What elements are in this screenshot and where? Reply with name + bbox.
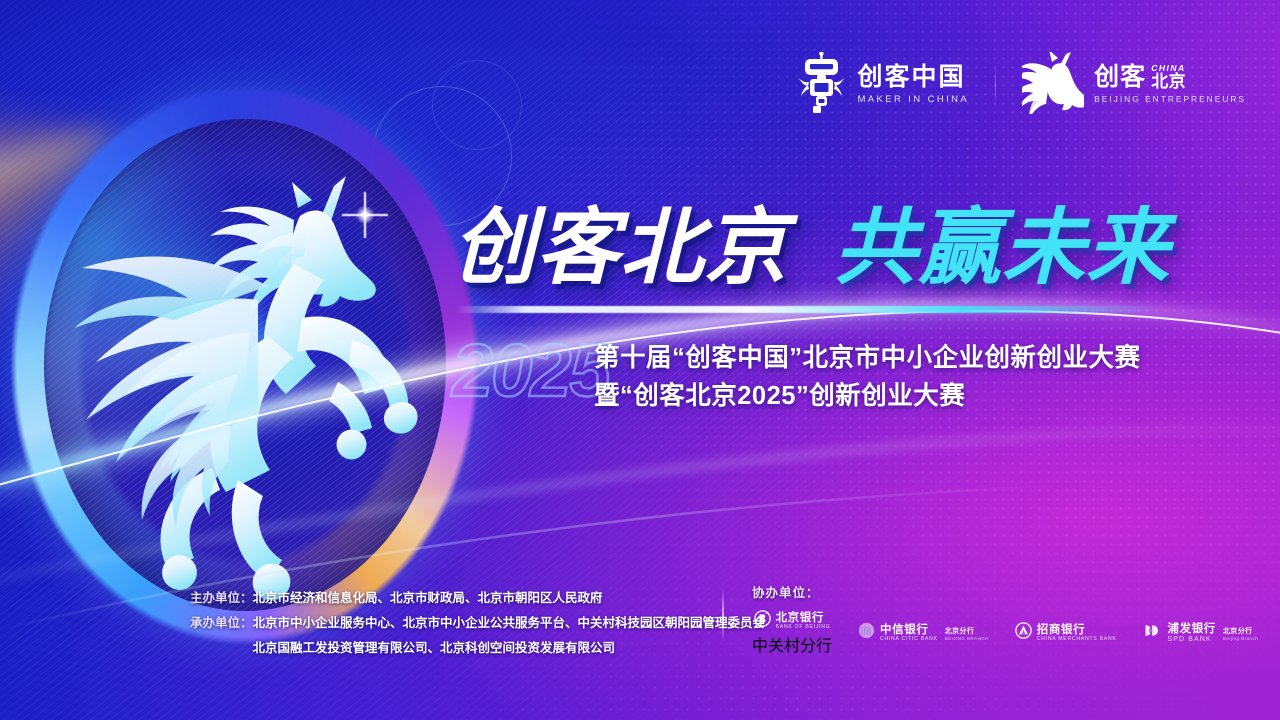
bank-branch: 中关村分行 — [752, 632, 832, 656]
poster-canvas: 创客中国 MAKER IN CHINA 创客 — [0, 0, 1280, 720]
organizer-label: 承办单位： — [190, 611, 253, 636]
bank-logo-china-merchants-bank[interactable]: 招商银行 CHINA MERCHANTS BANK — [1015, 622, 1117, 644]
coorganizer-block: 协办单位： 北京银行 BANK — [752, 582, 1258, 656]
bank-branch: 北京分行 — [945, 626, 989, 636]
logo-maker-in-china-wordmark: 创客中国 MAKER IN CHINA — [857, 64, 969, 107]
winged-unicorn-icon — [62, 168, 452, 598]
bank-logo-bank-of-beijing[interactable]: 北京银行 BANK OF BEIJING 中关村分行 — [752, 610, 832, 656]
organizer-value-2: 北京国融工发投资管理有限公司、北京科创空间投资发展有限公司 — [253, 636, 616, 661]
footer-block: 主办单位： 北京市经济和信息化局、北京市财政局、北京市朝阳区人民政府 承办单位：… — [0, 586, 1280, 686]
host-label: 主办单位： — [190, 586, 253, 611]
bank-name-en: CHINA MERCHANTS BANK — [1037, 637, 1117, 643]
host-row: 主办单位： 北京市经济和信息化局、北京市财政局、北京市朝阳区人民政府 — [190, 586, 765, 611]
organizer-row-continued: 承办单位： 北京国融工发投资管理有限公司、北京科创空间投资发展有限公司 — [190, 636, 765, 661]
logo-maker-beijing-en: BEIJING ENTREPRENEURS — [1094, 93, 1246, 106]
logo-maker-beijing-row: 创客 CHINA 北京 — [1094, 64, 1246, 90]
logo-maker-beijing-bj: 北京 — [1151, 73, 1186, 90]
robot-maker-icon — [797, 52, 847, 119]
bank-name-cn: 中信银行 — [880, 624, 938, 637]
subtitle-block: 第十届“创客中国”北京市中小企业创新创业大赛 暨“创客北京2025”创新创业大赛 — [594, 340, 1141, 415]
logo-maker-beijing-stack: CHINA 北京 — [1151, 64, 1186, 90]
bank-logo-china-citic-bank[interactable]: 中信银行 CHINA CITIC BANK 北京分行 BEIJING BRANC… — [858, 622, 989, 644]
main-title-block: 创客北京 共赢未来 — [452, 206, 1212, 289]
host-value: 北京市经济和信息化局、北京市财政局、北京市朝阳区人民政府 — [253, 586, 603, 611]
subtitle-line-1: 第十届“创客中国”北京市中小企业创新创业大赛 — [594, 340, 1141, 378]
bank-branch: 北京分行 — [1223, 626, 1258, 636]
title-part-1: 创客北京 — [452, 206, 788, 289]
bank-branch-en: BEIJING BRANCH — [945, 636, 989, 641]
organizer-value-1: 北京市中小企业服务中心、北京市中小企业公共服务平台、中关村科技园区朝阳园管理委员… — [253, 611, 766, 636]
title-part-2: 共赢未来 — [834, 206, 1170, 289]
coorganizer-label: 协办单位： — [752, 582, 1258, 601]
bank-of-beijing-icon — [754, 610, 771, 632]
footer-vertical-divider — [722, 588, 724, 642]
organizer-row: 承办单位： 北京市中小企业服务中心、北京市中小企业公共服务平台、中关村科技园区朝… — [190, 611, 765, 636]
logo-maker-beijing[interactable]: 创客 CHINA 北京 BEIJING ENTREPRENEURS — [1022, 52, 1246, 119]
sparkle-icon — [352, 202, 378, 228]
bank-name-en: SPD BANK — [1168, 636, 1216, 644]
logo-divider — [995, 63, 996, 109]
organizer-text-block: 主办单位： 北京市经济和信息化局、北京市财政局、北京市朝阳区人民政府 承办单位：… — [190, 586, 765, 661]
unicorn-head-icon — [1022, 52, 1084, 119]
logo-maker-in-china-cn: 创客中国 — [857, 64, 969, 92]
logo-maker-in-china-en: MAKER IN CHINA — [857, 92, 969, 107]
bank-name-cn: 浦发银行 — [1168, 623, 1216, 636]
china-citic-bank-icon — [858, 622, 875, 644]
title-underline-streak — [456, 306, 1156, 313]
page-title: 创客北京 共赢未来 — [452, 206, 1212, 289]
bank-name-en: BANK OF BEIJING — [776, 625, 831, 631]
bank-logo-row: 北京银行 BANK OF BEIJING 中关村分行 — [752, 610, 1258, 656]
year-watermark: 2025 — [452, 334, 609, 408]
logo-maker-beijing-wordmark: 创客 CHINA 北京 BEIJING ENTREPRENEURS — [1094, 64, 1246, 107]
subtitle-line-2: 暨“创客北京2025”创新创业大赛 — [594, 378, 1141, 416]
spd-bank-icon — [1143, 622, 1163, 644]
bank-name-cn: 招商银行 — [1037, 624, 1117, 637]
bank-name-cn: 北京银行 — [776, 612, 831, 625]
logo-maker-beijing-cn: 创客 — [1094, 64, 1146, 90]
header-logo-bar: 创客中国 MAKER IN CHINA 创客 — [797, 52, 1246, 119]
bank-logo-spd-bank[interactable]: 浦发银行 SPD BANK 北京分行 Beijing Branch — [1143, 622, 1259, 644]
bank-branch-en: Beijing Branch — [1223, 636, 1258, 641]
bank-name-en: CHINA CITIC BANK — [880, 637, 938, 643]
china-merchants-bank-icon — [1015, 622, 1032, 644]
logo-maker-in-china[interactable]: 创客中国 MAKER IN CHINA — [797, 52, 969, 119]
